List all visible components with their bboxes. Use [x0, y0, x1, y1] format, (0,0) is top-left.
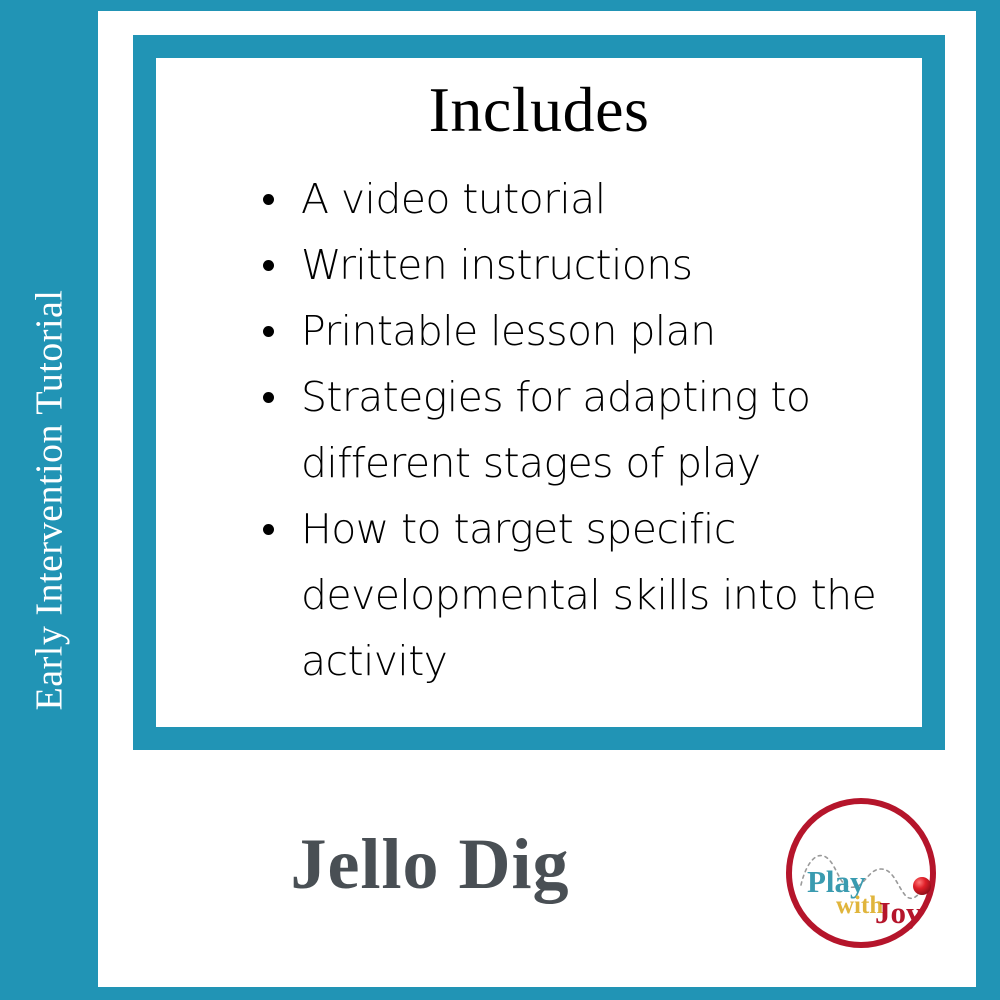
bullet-dot-icon: [263, 524, 274, 535]
bullet-dot-icon: [263, 194, 274, 205]
bullet-dot-icon: [263, 392, 274, 403]
page-title: Includes: [156, 78, 922, 142]
list-item-label: Strategies for adapting to different sta…: [301, 373, 810, 487]
card-content: Includes A video tutorial Written instru…: [156, 58, 922, 727]
play-with-joy-logo: Play with Joy: [777, 789, 945, 957]
bullet-dot-icon: [263, 260, 274, 271]
includes-list: A video tutorial Written instructions Pr…: [260, 166, 922, 694]
list-item: Written instructions: [260, 232, 922, 298]
teal-bottom-band: [98, 987, 1000, 1000]
sidebar-vertical-title: Early Intervention Tutorial: [0, 0, 98, 1000]
product-title: Jello Dig: [140, 828, 720, 900]
bullet-dot-icon: [263, 326, 274, 337]
list-item: Printable lesson plan: [260, 298, 922, 364]
poster-canvas: Early Intervention Tutorial Includes A v…: [0, 0, 1000, 1000]
teal-right-band: [976, 0, 1000, 1000]
sidebar-vertical-title-text: Early Intervention Tutorial: [30, 290, 68, 711]
teal-top-band: [98, 0, 1000, 11]
list-item-label: Printable lesson plan: [301, 307, 715, 355]
logo-word-joy: Joy: [875, 895, 922, 930]
list-item: A video tutorial: [260, 166, 922, 232]
list-item: How to target specific developmental ski…: [260, 496, 922, 694]
list-item-label: A video tutorial: [301, 175, 606, 223]
list-item-label: How to target specific developmental ski…: [301, 505, 876, 685]
list-item: Strategies for adapting to different sta…: [260, 364, 922, 496]
list-item-label: Written instructions: [301, 241, 692, 289]
